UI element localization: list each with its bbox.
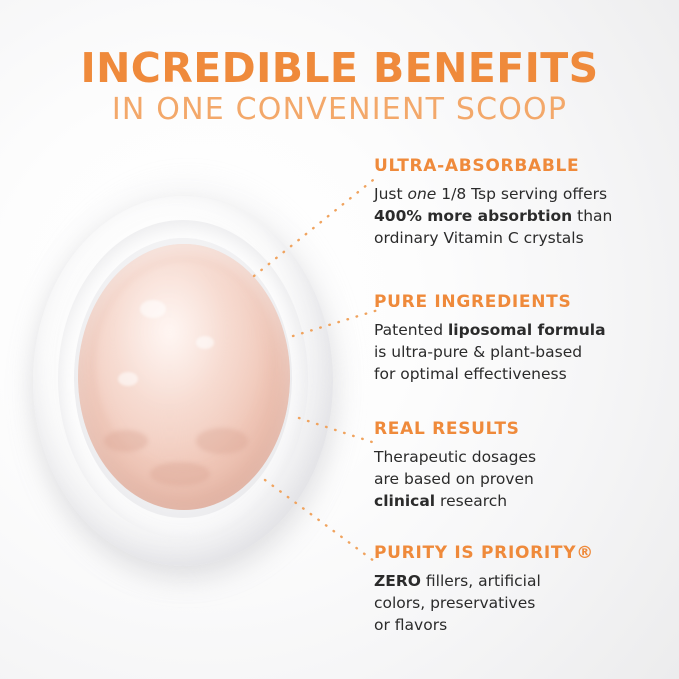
callout-body: Patented liposomal formula is ultra-pure… (374, 319, 644, 385)
text-segment-bold: liposomal formula (448, 321, 606, 339)
text-segment: or flavors (374, 616, 447, 634)
powder-speckle (140, 300, 166, 318)
callout-title: PURE INGREDIENTS (374, 292, 644, 312)
callout-title: ULTRA-ABSORBABLE (374, 156, 644, 176)
text-segment-italic: one (407, 185, 436, 203)
text-segment: 1/8 Tsp serving offers (436, 185, 607, 203)
page-title-line2: IN ONE CONVENIENT SCOOP (0, 92, 679, 127)
callout-real-results: REAL RESULTS Therapeutic dosages are bas… (374, 419, 644, 512)
text-segment: than (572, 207, 612, 225)
callout-line: ZERO fillers, artificial (374, 570, 644, 592)
callout-line: is ultra-pure & plant-based (374, 341, 644, 363)
text-segment: are based on proven (374, 470, 534, 488)
callout-line: Therapeutic dosages (374, 446, 644, 468)
callout-title: REAL RESULTS (374, 419, 644, 439)
text-segment: research (435, 492, 507, 510)
callout-title: PURITY IS PRIORITY® (374, 543, 644, 563)
callout-pure-ingredients: PURE INGREDIENTS Patented liposomal form… (374, 292, 644, 385)
powder-shade (104, 430, 148, 452)
callout-line: Patented liposomal formula (374, 319, 644, 341)
powder-speckle (118, 372, 138, 386)
callout-body: Therapeutic dosages are based on proven … (374, 446, 644, 512)
text-segment: Patented (374, 321, 448, 339)
text-segment: for optimal effectiveness (374, 365, 567, 383)
callout-line: ordinary Vitamin C crystals (374, 227, 644, 249)
text-segment: ordinary Vitamin C crystals (374, 229, 584, 247)
callout-ultra-absorbable: ULTRA-ABSORBABLE Just one 1/8 Tsp servin… (374, 156, 644, 249)
powder-shade (150, 462, 210, 486)
callout-line: or flavors (374, 614, 644, 636)
powder-shade (196, 428, 248, 454)
callout-line: clinical research (374, 490, 644, 512)
text-segment-bold: 400% more absorbtion (374, 207, 572, 225)
text-segment: fillers, artificial (421, 572, 541, 590)
callout-line: Just one 1/8 Tsp serving offers (374, 183, 644, 205)
callout-purity-is-priority: PURITY IS PRIORITY® ZERO fillers, artifi… (374, 543, 644, 636)
callout-line: for optimal effectiveness (374, 363, 644, 385)
callout-body: Just one 1/8 Tsp serving offers 400% mor… (374, 183, 644, 249)
text-segment: Just (374, 185, 407, 203)
page-title-line1: INCREDIBLE BENEFITS (0, 44, 679, 92)
infographic-canvas: INCREDIBLE BENEFITS IN ONE CONVENIENT SC… (0, 0, 679, 679)
callout-line: are based on proven (374, 468, 644, 490)
callout-body: ZERO fillers, artificial colors, preserv… (374, 570, 644, 636)
text-segment: is ultra-pure & plant-based (374, 343, 582, 361)
callout-line: 400% more absorbtion than (374, 205, 644, 227)
callout-line: colors, preservatives (374, 592, 644, 614)
text-segment: Therapeutic dosages (374, 448, 536, 466)
text-segment-bold: clinical (374, 492, 435, 510)
text-segment-bold: ZERO (374, 572, 421, 590)
powder-speckle (196, 336, 214, 349)
text-segment: colors, preservatives (374, 594, 535, 612)
